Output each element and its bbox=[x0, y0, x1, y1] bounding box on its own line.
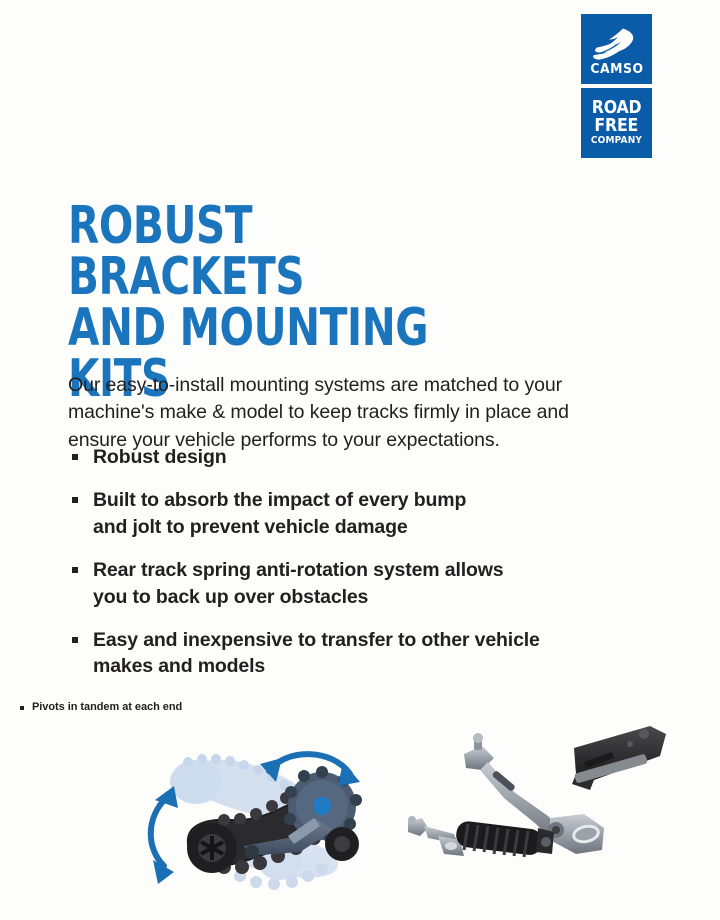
intro-paragraph: Our easy-to-install mounting systems are… bbox=[68, 372, 628, 456]
anti-rotation-spring-product bbox=[408, 816, 554, 857]
camso-tree-mark-icon bbox=[592, 27, 642, 61]
footnote-caption: Pivots in tandem at each end bbox=[18, 701, 182, 713]
road-free-line-2: FREE bbox=[595, 118, 639, 135]
brand-logo-stack: CAMSO ROAD FREE COMPANY bbox=[581, 14, 652, 158]
illustration-area bbox=[0, 718, 720, 918]
pivot-arrow-left-icon bbox=[151, 798, 166, 866]
road-free-company-logo-box: ROAD FREE COMPANY bbox=[581, 88, 652, 158]
pivot-arrow-top-icon bbox=[269, 754, 350, 774]
feature-bullet-list: Robust design Built to absorb the impact… bbox=[68, 444, 648, 696]
mounting-bracket-product bbox=[572, 726, 666, 790]
pivot-arrow-left-heads-icon bbox=[153, 786, 178, 884]
camso-logo-box: CAMSO bbox=[581, 14, 652, 84]
product-hardware-photos bbox=[398, 718, 698, 898]
list-item: Robust design bbox=[68, 444, 648, 471]
list-item: Rear track spring anti-rotation system a… bbox=[68, 557, 648, 611]
camso-wordmark: CAMSO bbox=[590, 63, 643, 77]
page-root: { "brand": { "logo_primary": { "wordmark… bbox=[0, 0, 720, 920]
rear-wheel bbox=[187, 823, 237, 873]
track-system-illustration bbox=[128, 726, 388, 906]
road-free-line-3: COMPANY bbox=[591, 136, 642, 146]
list-item: Easy and inexpensive to transfer to othe… bbox=[68, 627, 648, 681]
list-item: Built to absorb the impact of every bump… bbox=[68, 487, 648, 541]
front-idler-wheel bbox=[325, 827, 359, 861]
